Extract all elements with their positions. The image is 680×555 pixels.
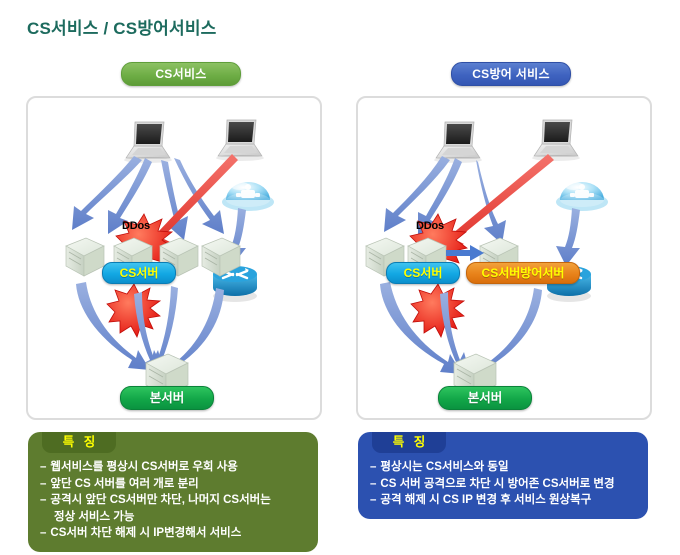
page-title: CS서비스 / CS방어서비스 xyxy=(27,14,217,39)
feature-box-cs-service: 특 징 –웹서비스를 평상시 CS서버로 우회 사용 –앞단 CS 서버를 여러… xyxy=(28,432,318,552)
feature-text: 평상시는 CS서비스와 동일 xyxy=(380,461,508,473)
feature-item: –공격 해제 시 CS IP 변경 후 서비스 원상복구 xyxy=(370,492,638,509)
feature-dash: – xyxy=(370,478,376,490)
feature-list-cs-service: –웹서비스를 평상시 CS서버로 우회 사용 –앞단 CS 서버를 여러 개로 … xyxy=(28,459,318,542)
feature-tab-label: 특 징 xyxy=(42,432,116,453)
feature-dash: – xyxy=(40,478,46,490)
cloud-icon xyxy=(556,182,608,211)
feature-text: 공격시 앞단 CS서버만 차단, 나머지 CS서버는 xyxy=(50,494,270,506)
feature-item-continuation: 정상 서비스 가능 xyxy=(40,509,308,526)
node-label-main-server: 본서버 xyxy=(120,386,214,410)
header-pill-cs-service: CS서비스 xyxy=(121,62,241,86)
laptop-icon xyxy=(434,122,482,163)
explosion-icon xyxy=(411,284,464,337)
feature-item: –웹서비스를 평상시 CS서버로 우회 사용 xyxy=(40,459,308,476)
feature-list-cs-defense-service: –평상시는 CS서비스와 동일 –CS 서버 공격으로 차단 시 방어존 CS서… xyxy=(358,459,648,509)
cloud-icon xyxy=(222,182,274,211)
column-cs-service: CS서비스 xyxy=(26,62,336,420)
diagram-svg-cs-service xyxy=(28,98,316,414)
feature-dash: – xyxy=(370,494,376,506)
node-label-main-server: 본서버 xyxy=(438,386,532,410)
feature-text: CS 서버 공격으로 차단 시 방어존 CS서버로 변경 xyxy=(380,478,614,490)
feature-item: –CS서버 차단 해제 시 IP변경해서 서비스 xyxy=(40,525,308,542)
feature-text: 앞단 CS 서버를 여러 개로 분리 xyxy=(50,478,198,490)
node-label-cs-defense-server: CS서버방어서버 xyxy=(466,262,580,284)
diagram-panel-cs-defense-service: DDos CS서버 CS서버방어서버 본서버 xyxy=(356,96,652,420)
laptop-icon xyxy=(532,120,580,161)
feature-box-cs-defense-service: 특 징 –평상시는 CS서비스와 동일 –CS 서버 공격으로 차단 시 방어존… xyxy=(358,432,648,519)
feature-text: 공격 해제 시 CS IP 변경 후 서비스 원상복구 xyxy=(380,494,591,506)
column-cs-defense-service: CS방어 서비스 xyxy=(356,62,666,420)
cloud-to-router-arrow xyxy=(556,208,580,266)
header-pill-cs-defense-service: CS방어 서비스 xyxy=(451,62,571,86)
feature-text: CS서버 차단 해제 시 IP변경해서 서비스 xyxy=(50,527,241,539)
feature-dash: – xyxy=(40,527,46,539)
feature-item: –CS 서버 공격으로 차단 시 방어존 CS서버로 변경 xyxy=(370,476,638,493)
feature-text: 웹서비스를 평상시 CS서버로 우회 사용 xyxy=(50,461,237,473)
explosion-icon xyxy=(107,284,160,337)
feature-text: 정상 서비스 가능 xyxy=(54,511,134,523)
feature-dash: – xyxy=(40,494,46,506)
server-stack-icon xyxy=(66,238,104,276)
laptop-icon xyxy=(216,120,264,161)
laptop-icon xyxy=(124,122,172,163)
diagram-svg-cs-defense-service xyxy=(358,98,646,414)
node-label-cs-server: CS서버 xyxy=(386,262,460,284)
diagram-panel-cs-service: DDos CS서버 본서버 xyxy=(26,96,322,420)
feature-item: –평상시는 CS서비스와 동일 xyxy=(370,459,638,476)
feature-tab-label: 특 징 xyxy=(372,432,446,453)
feature-item: –공격시 앞단 CS서버만 차단, 나머지 CS서버는 xyxy=(40,492,308,509)
node-label-cs-server: CS서버 xyxy=(102,262,176,284)
feature-dash: – xyxy=(370,461,376,473)
feature-dash: – xyxy=(40,461,46,473)
feature-item: –앞단 CS 서버를 여러 개로 분리 xyxy=(40,476,308,493)
